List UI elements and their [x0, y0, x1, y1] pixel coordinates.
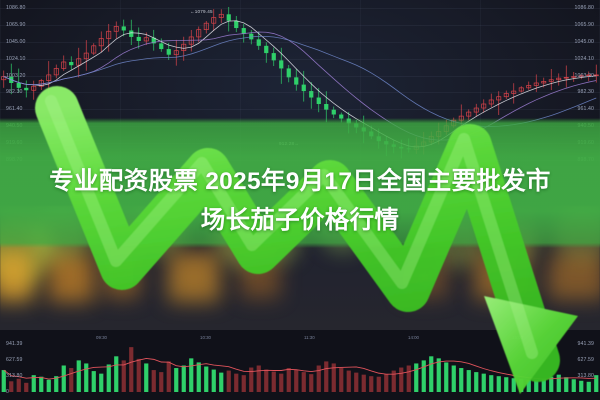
banner-image: 1086.801086.801065.901065.901045.001045.…	[0, 0, 600, 400]
title-line-2: 场长茄子价格行情	[0, 201, 600, 240]
title-line-1: 专业配资股票 2025年9月17日全国主要批发市	[0, 162, 600, 201]
banner-title: 专业配资股票 2025年9月17日全国主要批发市 场长茄子价格行情	[0, 162, 600, 240]
